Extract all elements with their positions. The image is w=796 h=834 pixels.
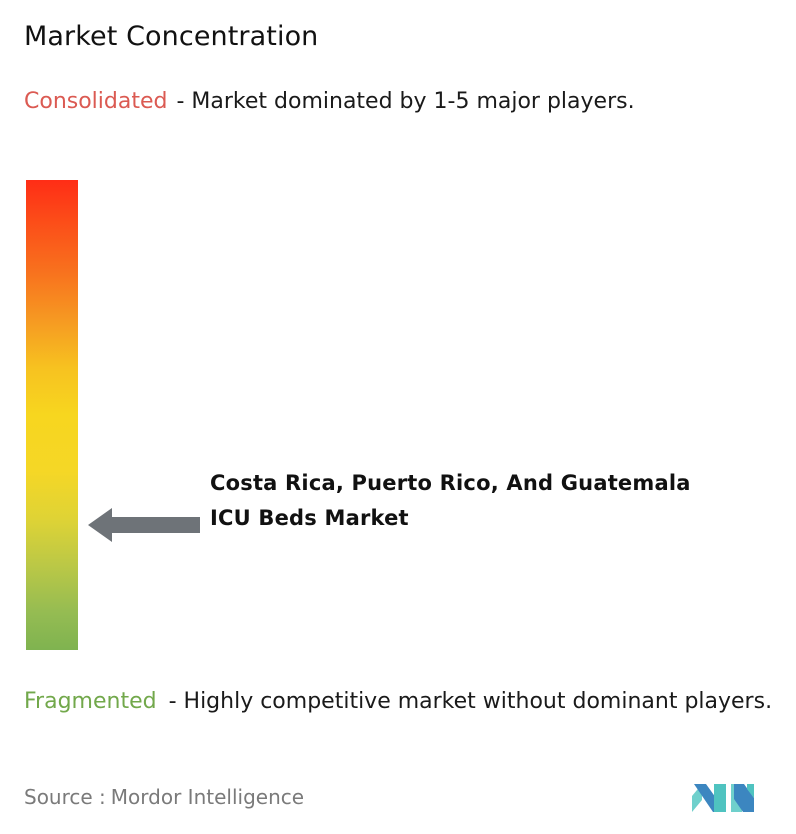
source-label: Source : [24,785,106,809]
source-name: Mordor Intelligence [111,785,304,809]
legend-consolidated-description: - Market dominated by 1-5 major players. [176,89,634,114]
source-attribution: Source :Mordor Intelligence [24,784,304,810]
market-position-callout: Costa Rica, Puerto Rico, And Guatemala I… [88,466,708,546]
mordor-intelligence-logo [690,778,756,818]
arrow-left-container [88,466,200,546]
footer: Source :Mordor Intelligence [0,776,796,834]
legend-fragmented: Fragmented- Highly competitive market wi… [24,686,784,718]
legend-fragmented-description: - Highly competitive market without domi… [169,689,772,714]
page-title: Market Concentration [24,20,318,54]
legend-consolidated-keyword: Consolidated [24,89,167,114]
legend-fragmented-keyword: Fragmented [24,689,157,714]
legend-consolidated: Consolidated- Market dominated by 1-5 ma… [24,86,776,118]
arrow-left-icon [88,504,200,546]
market-position-label: Costa Rica, Puerto Rico, And Guatemala I… [200,466,708,536]
concentration-gradient-bar [26,180,78,650]
